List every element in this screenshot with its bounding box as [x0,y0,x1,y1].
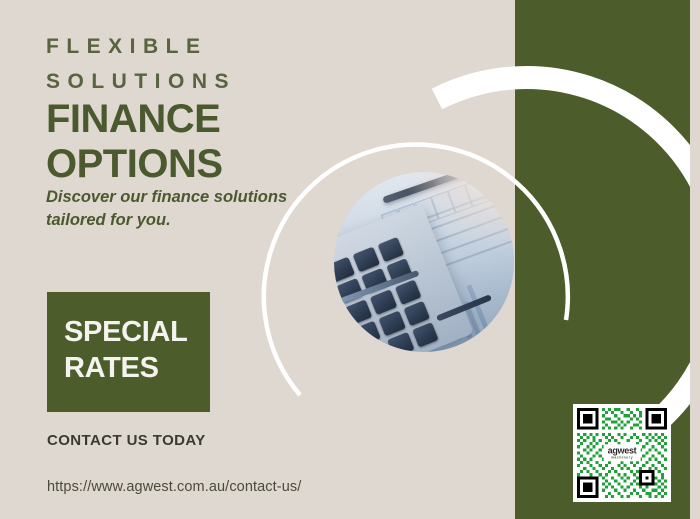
qr-brand-tagline: machinery [608,456,637,459]
badge-text: SPECIAL RATES [64,314,209,386]
right-margin-strip [690,0,700,519]
kicker-line-2: SOLUTIONS [46,64,466,99]
tagline-line-1: Discover our finance solutions [46,186,336,209]
headline-line-2: OPTIONS [46,142,376,187]
badge-line-2: RATES [64,350,209,386]
contact-url[interactable]: https://www.agwest.com.au/contact-us/ [47,479,301,495]
tagline: Discover our finance solutions tailored … [46,186,336,232]
tagline-line-2: tailored for you. [46,209,336,232]
kicker-line-1: FLEXIBLE [46,35,208,58]
marketing-poster: FLEXIBLE SOLUTIONS FINANCE OPTIONS Disco… [0,0,700,519]
qr-brand-name: agwest [608,446,637,455]
special-rates-badge: SPECIAL RATES [47,292,210,412]
headline-line-1: FINANCE [46,97,376,142]
qr-alignment-pattern [639,470,655,486]
qr-center-logo: agwest machinery [604,444,641,461]
kicker-text: FLEXIBLE SOLUTIONS [46,29,466,99]
qr-code[interactable]: agwest machinery [573,404,671,502]
page-title: FINANCE OPTIONS [46,97,376,187]
badge-line-1: SPECIAL [64,314,209,350]
cta-text: CONTACT US TODAY [47,432,206,449]
outer-arc [437,77,700,450]
